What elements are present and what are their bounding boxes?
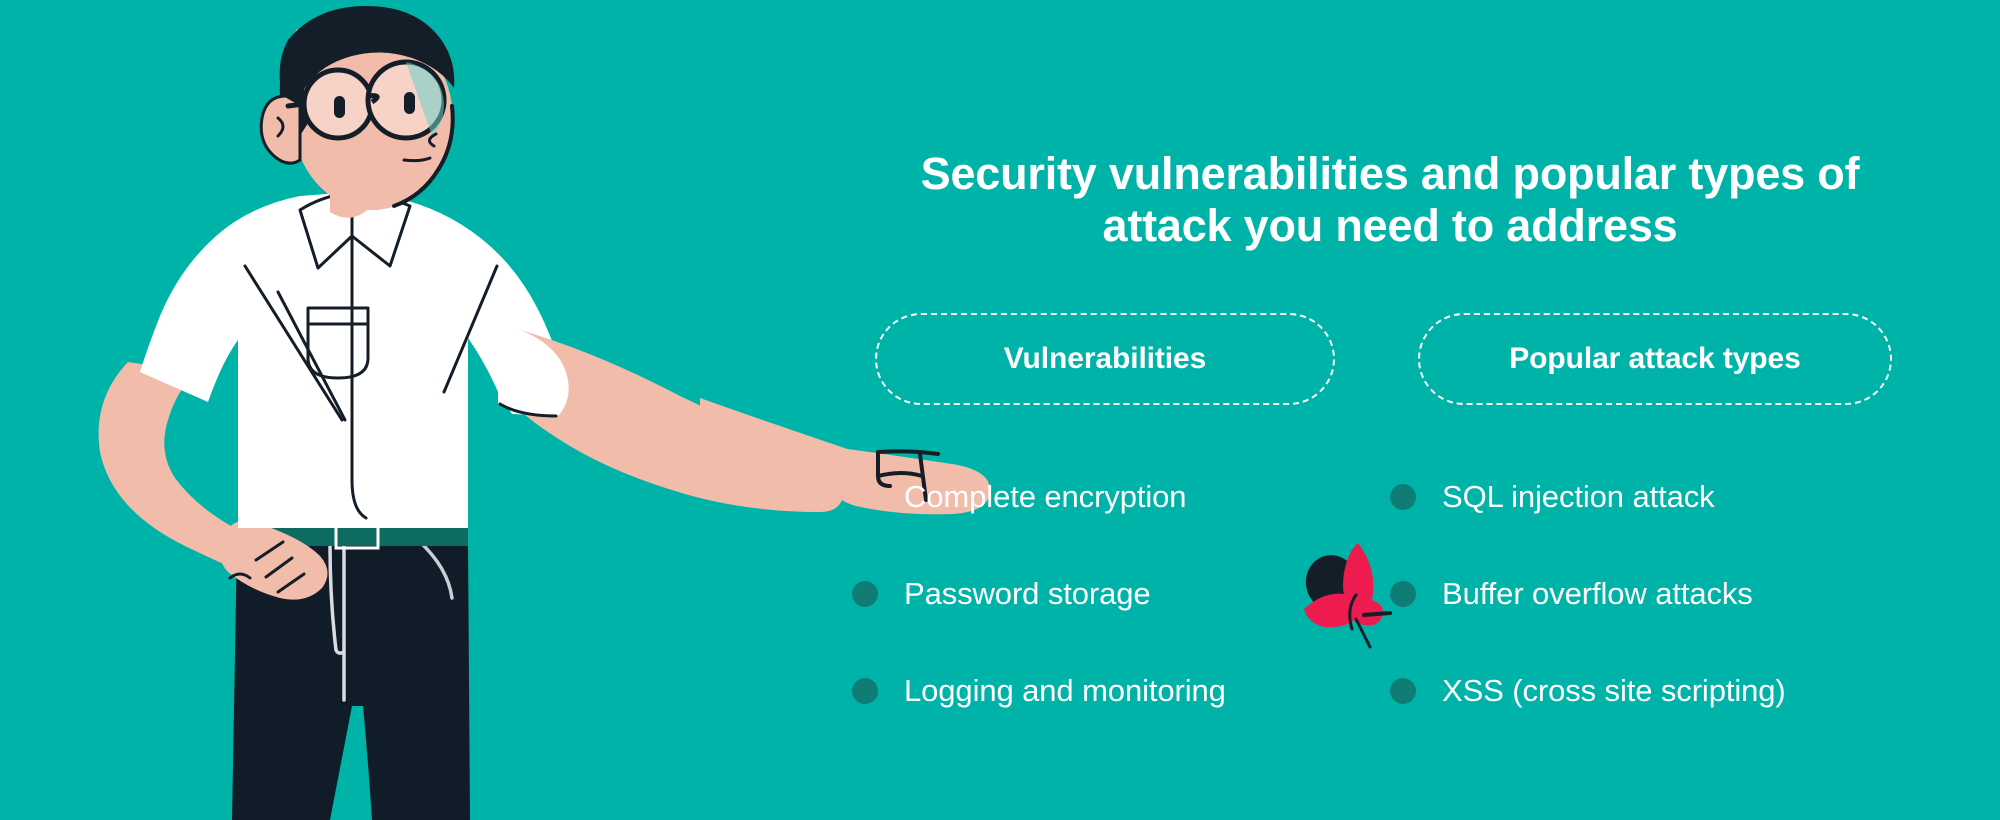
page-title-line-2: attack you need to address (1103, 200, 1678, 251)
bullet-dot-icon (852, 678, 878, 704)
trousers-group (232, 541, 470, 820)
category-pill-label: Vulnerabilities (1004, 342, 1206, 376)
shirt-group (140, 192, 573, 528)
list-item-label: Logging and monitoring (904, 673, 1226, 709)
category-pill-row: Vulnerabilities Popular attack types (830, 313, 1950, 407)
list-item-label: SQL injection attack (1442, 479, 1715, 515)
list-item-label: Password storage (904, 576, 1151, 612)
belt-group (237, 520, 468, 548)
bullet-dot-icon (1390, 581, 1416, 607)
list-item: SQL injection attack (1390, 448, 1930, 545)
list-item: Buffer overflow attacks (1390, 545, 1930, 642)
bullet-dot-icon (852, 581, 878, 607)
category-pill-vulnerabilities[interactable]: Vulnerabilities (875, 313, 1335, 405)
bullet-dot-icon (1390, 678, 1416, 704)
content-column: Security vulnerabilities and popular typ… (830, 0, 1950, 820)
list-item: Password storage (852, 545, 1372, 642)
list-item-label: Buffer overflow attacks (1442, 576, 1753, 612)
list-item: Complete encryption (852, 448, 1372, 545)
list-item-label: Complete encryption (904, 479, 1186, 515)
page-title: Security vulnerabilities and popular typ… (830, 148, 1950, 252)
bullet-column-vulnerabilities: Complete encryption Password storage Log… (852, 448, 1372, 739)
category-pill-label: Popular attack types (1509, 342, 1800, 376)
list-item: Logging and monitoring (852, 642, 1372, 739)
page-title-line-1: Security vulnerabilities and popular typ… (921, 148, 1860, 199)
infographic-canvas: Security vulnerabilities and popular typ… (0, 0, 2000, 820)
left-arm-group (99, 362, 328, 600)
category-pill-popular-attack-types[interactable]: Popular attack types (1418, 313, 1892, 405)
head-group (261, 6, 454, 218)
bullet-dot-icon (1390, 484, 1416, 510)
list-item-label: XSS (cross site scripting) (1442, 673, 1786, 709)
list-item: XSS (cross site scripting) (1390, 642, 1930, 739)
bullet-column-popular-attack-types: SQL injection attack Buffer overflow att… (1390, 448, 1930, 739)
